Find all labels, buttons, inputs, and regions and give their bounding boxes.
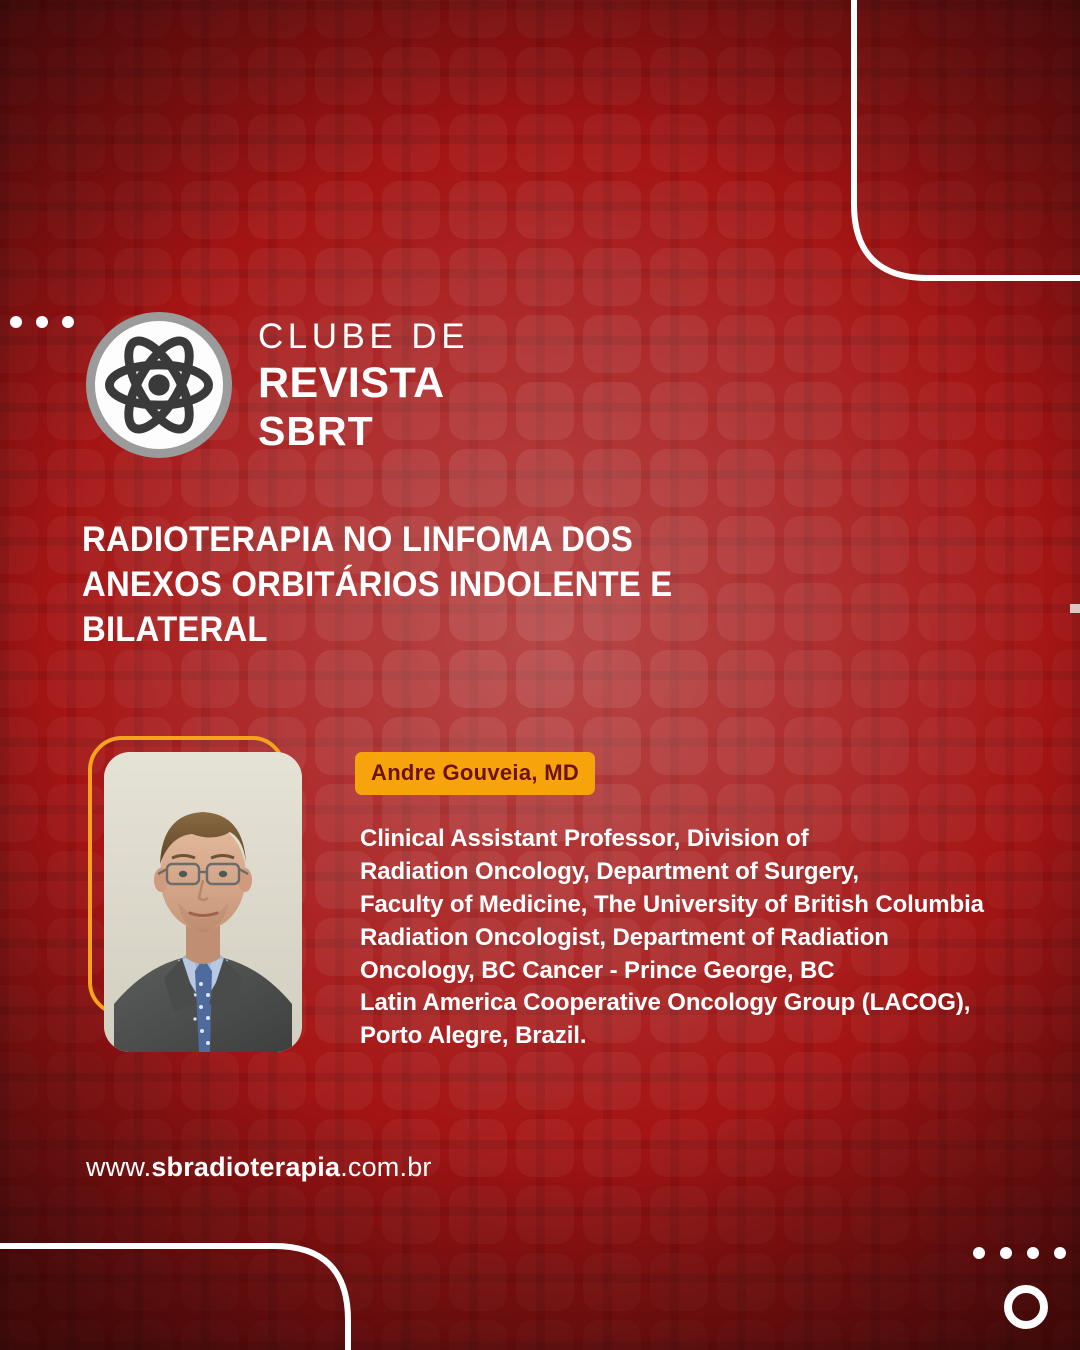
background-tile bbox=[650, 717, 708, 775]
background-tile bbox=[449, 1253, 507, 1311]
background-tile bbox=[1052, 1253, 1080, 1311]
background-tile bbox=[583, 382, 641, 440]
background-tile bbox=[114, 114, 172, 172]
background-tile bbox=[918, 583, 976, 641]
bio-line: Radiation Oncology, Department of Surger… bbox=[360, 856, 1020, 889]
background-tile bbox=[114, 1253, 172, 1311]
background-tile bbox=[717, 583, 775, 641]
background-tile bbox=[0, 650, 38, 708]
brand-line-1: CLUBE DE bbox=[258, 319, 469, 354]
background-tile bbox=[717, 1253, 775, 1311]
background-tile bbox=[784, 248, 842, 306]
background-tile bbox=[918, 181, 976, 239]
background-tile bbox=[449, 1119, 507, 1177]
background-tile bbox=[114, 0, 172, 38]
background-tile bbox=[47, 181, 105, 239]
background-tile bbox=[114, 1320, 172, 1350]
background-tile bbox=[583, 1052, 641, 1110]
portrait-photo bbox=[104, 752, 302, 1052]
background-tile bbox=[985, 717, 1043, 775]
background-tile bbox=[1052, 1052, 1080, 1110]
background-tile bbox=[851, 1119, 909, 1177]
dot bbox=[1027, 1247, 1039, 1259]
background-tile bbox=[449, 1186, 507, 1244]
background-tile bbox=[851, 382, 909, 440]
background-tile bbox=[717, 315, 775, 373]
background-tile bbox=[1052, 985, 1080, 1043]
background-tile bbox=[851, 315, 909, 373]
background-tile bbox=[382, 1052, 440, 1110]
background-tile bbox=[851, 449, 909, 507]
background-tile bbox=[248, 1320, 306, 1350]
background-tile bbox=[0, 583, 38, 641]
background-tile bbox=[650, 1119, 708, 1177]
background-tile bbox=[449, 248, 507, 306]
background-tile bbox=[985, 650, 1043, 708]
background-tile bbox=[784, 47, 842, 105]
background-tile bbox=[382, 181, 440, 239]
background-tile bbox=[248, 248, 306, 306]
background-tile bbox=[583, 114, 641, 172]
background-tile bbox=[47, 1052, 105, 1110]
background-tile bbox=[516, 181, 574, 239]
background-tile bbox=[516, 47, 574, 105]
background-tile bbox=[0, 1186, 38, 1244]
background-tile bbox=[114, 47, 172, 105]
background-tile bbox=[114, 650, 172, 708]
brand-line-3: SBRT bbox=[258, 411, 469, 452]
speaker-name-badge: Andre Gouveia, MD bbox=[355, 752, 595, 795]
page-title: RADIOTERAPIA NO LINFOMA DOS ANEXOS ORBIT… bbox=[82, 518, 684, 652]
background-tile bbox=[248, 0, 306, 38]
background-tile bbox=[516, 1052, 574, 1110]
background-tile bbox=[583, 650, 641, 708]
atom-icon-glyph bbox=[100, 326, 218, 444]
background-tile bbox=[47, 248, 105, 306]
background-tile bbox=[650, 650, 708, 708]
background-tile bbox=[181, 248, 239, 306]
background-tile bbox=[784, 650, 842, 708]
background-tile bbox=[449, 1052, 507, 1110]
poster-canvas: CLUBE DE REVISTA SBRT RADIOTERAPIA NO LI… bbox=[0, 0, 1080, 1350]
background-tile bbox=[114, 1052, 172, 1110]
brand-logo: CLUBE DE REVISTA SBRT bbox=[86, 312, 469, 458]
background-tile bbox=[851, 0, 909, 38]
background-tile bbox=[784, 516, 842, 574]
background-tile bbox=[449, 1320, 507, 1350]
background-tile bbox=[47, 1253, 105, 1311]
background-tile bbox=[248, 1052, 306, 1110]
background-tile bbox=[650, 47, 708, 105]
bio-line: Clinical Assistant Professor, Division o… bbox=[360, 823, 1020, 856]
background-tile bbox=[449, 650, 507, 708]
background-tile bbox=[851, 516, 909, 574]
background-tile bbox=[918, 1186, 976, 1244]
background-tile bbox=[382, 1253, 440, 1311]
background-tile bbox=[382, 47, 440, 105]
background-tile bbox=[918, 717, 976, 775]
background-tile bbox=[516, 382, 574, 440]
background-tile bbox=[918, 47, 976, 105]
background-tile bbox=[851, 114, 909, 172]
background-tile bbox=[918, 1320, 976, 1350]
background-tile bbox=[985, 583, 1043, 641]
speaker-bio: Clinical Assistant Professor, Division o… bbox=[360, 823, 1020, 1053]
background-tile bbox=[516, 0, 574, 38]
background-tile bbox=[717, 0, 775, 38]
dot bbox=[1000, 1247, 1012, 1259]
background-tile bbox=[918, 248, 976, 306]
edge-tick-mark bbox=[1070, 604, 1080, 613]
background-tile bbox=[851, 181, 909, 239]
background-tile bbox=[650, 181, 708, 239]
background-tile bbox=[315, 47, 373, 105]
dot bbox=[10, 316, 22, 328]
background-tile bbox=[449, 0, 507, 38]
background-tile bbox=[516, 1186, 574, 1244]
background-tile bbox=[382, 114, 440, 172]
dots-right bbox=[973, 1247, 1066, 1259]
background-tile bbox=[516, 315, 574, 373]
background-tile bbox=[1052, 650, 1080, 708]
background-tile bbox=[0, 114, 38, 172]
background-tile bbox=[0, 1119, 38, 1177]
background-tile bbox=[784, 382, 842, 440]
background-tile bbox=[382, 248, 440, 306]
background-tile bbox=[583, 47, 641, 105]
background-tile bbox=[583, 0, 641, 38]
background-tile bbox=[985, 1119, 1043, 1177]
dot bbox=[1054, 1247, 1066, 1259]
background-tile bbox=[918, 0, 976, 38]
background-tile bbox=[985, 1186, 1043, 1244]
background-tile bbox=[516, 449, 574, 507]
background-tile bbox=[650, 382, 708, 440]
background-tile bbox=[516, 650, 574, 708]
background-tile bbox=[315, 1253, 373, 1311]
website-prefix: www. bbox=[86, 1152, 151, 1182]
background-tile bbox=[181, 650, 239, 708]
background-tile bbox=[516, 248, 574, 306]
background-tile bbox=[0, 851, 38, 909]
background-tile bbox=[0, 784, 38, 842]
bio-line: Oncology, BC Cancer - Prince George, BC bbox=[360, 955, 1020, 988]
background-tile bbox=[248, 1253, 306, 1311]
background-tile bbox=[717, 382, 775, 440]
background-tile bbox=[918, 1119, 976, 1177]
background-tile bbox=[583, 1186, 641, 1244]
background-tile bbox=[650, 114, 708, 172]
website-domain: sbradioterapia bbox=[151, 1152, 340, 1182]
background-tile bbox=[315, 1186, 373, 1244]
background-tile bbox=[248, 1186, 306, 1244]
background-tile bbox=[851, 1253, 909, 1311]
background-tile bbox=[181, 0, 239, 38]
website-suffix: .com.br bbox=[340, 1152, 431, 1182]
background-tile bbox=[1052, 181, 1080, 239]
background-tile bbox=[851, 583, 909, 641]
background-tile bbox=[0, 1052, 38, 1110]
background-tile bbox=[650, 315, 708, 373]
background-tile bbox=[1052, 248, 1080, 306]
background-tile bbox=[1052, 1320, 1080, 1350]
background-tile bbox=[583, 181, 641, 239]
background-tile bbox=[181, 1253, 239, 1311]
background-tile bbox=[181, 114, 239, 172]
background-tile bbox=[0, 0, 38, 38]
background-tile bbox=[717, 516, 775, 574]
background-tile bbox=[784, 0, 842, 38]
background-tile bbox=[449, 181, 507, 239]
background-tile bbox=[47, 0, 105, 38]
background-tile bbox=[516, 114, 574, 172]
background-tile bbox=[918, 650, 976, 708]
background-tile bbox=[315, 181, 373, 239]
background-tile bbox=[918, 516, 976, 574]
background-tile bbox=[1052, 315, 1080, 373]
background-tile bbox=[315, 248, 373, 306]
background-tile bbox=[0, 449, 38, 507]
background-tile bbox=[1052, 717, 1080, 775]
background-tile bbox=[1052, 114, 1080, 172]
background-tile bbox=[851, 1186, 909, 1244]
background-tile bbox=[784, 1253, 842, 1311]
background-tile bbox=[784, 1119, 842, 1177]
background-tile bbox=[1052, 449, 1080, 507]
background-tile bbox=[717, 181, 775, 239]
brand-line-2: REVISTA bbox=[258, 362, 469, 405]
background-tile bbox=[181, 1052, 239, 1110]
background-tile bbox=[1052, 784, 1080, 842]
background-tile bbox=[650, 1186, 708, 1244]
background-tile bbox=[1052, 918, 1080, 976]
background-tile bbox=[851, 248, 909, 306]
background-tile bbox=[1052, 1119, 1080, 1177]
atom-icon bbox=[86, 312, 232, 458]
dot bbox=[973, 1247, 985, 1259]
background-tile bbox=[851, 1052, 909, 1110]
bio-line: Porto Alegre, Brazil. bbox=[360, 1020, 1020, 1053]
background-tile bbox=[248, 114, 306, 172]
background-tile bbox=[382, 650, 440, 708]
background-tile bbox=[382, 1320, 440, 1350]
background-tile bbox=[851, 1320, 909, 1350]
background-tile bbox=[784, 1320, 842, 1350]
background-tile bbox=[985, 516, 1043, 574]
background-tile bbox=[315, 114, 373, 172]
background-tile bbox=[0, 382, 38, 440]
background-tile bbox=[1052, 516, 1080, 574]
background-tile bbox=[717, 1119, 775, 1177]
background-tile bbox=[583, 315, 641, 373]
background-tile bbox=[315, 650, 373, 708]
background-tile bbox=[382, 0, 440, 38]
background-tile bbox=[315, 1320, 373, 1350]
background-tile bbox=[918, 449, 976, 507]
background-tile bbox=[315, 0, 373, 38]
background-tile bbox=[985, 449, 1043, 507]
background-tile bbox=[717, 650, 775, 708]
background-tile bbox=[248, 181, 306, 239]
background-tile bbox=[47, 114, 105, 172]
background-tile bbox=[0, 1320, 38, 1350]
background-tile bbox=[0, 47, 38, 105]
background-tile bbox=[181, 1186, 239, 1244]
background-tile bbox=[985, 1052, 1043, 1110]
background-tile bbox=[248, 650, 306, 708]
background-tile bbox=[985, 181, 1043, 239]
background-tile bbox=[0, 1253, 38, 1311]
background-tile bbox=[717, 114, 775, 172]
background-tile bbox=[784, 449, 842, 507]
background-tile bbox=[650, 1253, 708, 1311]
background-tile bbox=[650, 248, 708, 306]
background-tile bbox=[516, 1320, 574, 1350]
background-tile bbox=[0, 248, 38, 306]
background-tile bbox=[516, 1119, 574, 1177]
background-tile bbox=[851, 650, 909, 708]
background-tiles bbox=[0, 0, 1080, 1350]
dot bbox=[62, 316, 74, 328]
background-tile bbox=[47, 1186, 105, 1244]
background-tile bbox=[985, 382, 1043, 440]
background-tile bbox=[784, 717, 842, 775]
background-tile bbox=[47, 47, 105, 105]
background-tile bbox=[583, 1253, 641, 1311]
background-tile bbox=[181, 1320, 239, 1350]
background-tile bbox=[918, 382, 976, 440]
background-tile bbox=[650, 1052, 708, 1110]
background-tile bbox=[851, 717, 909, 775]
background-tile bbox=[449, 114, 507, 172]
background-tile bbox=[717, 248, 775, 306]
background-tile bbox=[1052, 47, 1080, 105]
background-tile bbox=[382, 1186, 440, 1244]
background-tile bbox=[114, 1186, 172, 1244]
background-tile bbox=[47, 650, 105, 708]
background-tile bbox=[851, 47, 909, 105]
bio-line: Faculty of Medicine, The University of B… bbox=[360, 889, 1020, 922]
speaker-avatar bbox=[104, 752, 302, 1052]
background-tile bbox=[985, 0, 1043, 38]
background-tile bbox=[0, 717, 38, 775]
dots-left bbox=[10, 316, 74, 328]
background-tile bbox=[784, 181, 842, 239]
background-tile bbox=[0, 985, 38, 1043]
background-tile bbox=[0, 918, 38, 976]
background-tile bbox=[717, 47, 775, 105]
background-tile bbox=[114, 181, 172, 239]
background-tile bbox=[516, 1253, 574, 1311]
background-tile bbox=[650, 0, 708, 38]
dot bbox=[36, 316, 48, 328]
background-tile bbox=[784, 1186, 842, 1244]
bio-line: Latin America Cooperative Oncology Group… bbox=[360, 987, 1020, 1020]
background-tile bbox=[0, 516, 38, 574]
background-tile bbox=[0, 181, 38, 239]
background-tile bbox=[583, 449, 641, 507]
background-tile bbox=[985, 47, 1043, 105]
background-tile bbox=[1052, 1186, 1080, 1244]
background-tile bbox=[985, 114, 1043, 172]
background-tile bbox=[784, 583, 842, 641]
background-tile bbox=[315, 1052, 373, 1110]
website-url[interactable]: www.sbradioterapia.com.br bbox=[86, 1152, 432, 1183]
background-tile bbox=[181, 181, 239, 239]
background-tile bbox=[784, 315, 842, 373]
background-tile bbox=[181, 47, 239, 105]
background-tile bbox=[583, 1320, 641, 1350]
background-tile bbox=[1052, 851, 1080, 909]
background-tile bbox=[985, 315, 1043, 373]
background-tile bbox=[717, 1052, 775, 1110]
background-tile bbox=[717, 1186, 775, 1244]
background-tile bbox=[1052, 0, 1080, 38]
background-tile bbox=[114, 248, 172, 306]
bio-line: Radiation Oncologist, Department of Radi… bbox=[360, 922, 1020, 955]
background-tile bbox=[717, 1320, 775, 1350]
background-tile bbox=[248, 47, 306, 105]
background-tile bbox=[918, 114, 976, 172]
background-tile bbox=[583, 248, 641, 306]
background-tile bbox=[918, 1253, 976, 1311]
background-tile bbox=[918, 315, 976, 373]
background-tile bbox=[784, 114, 842, 172]
circle-outline-icon bbox=[1004, 1285, 1048, 1329]
background-tile bbox=[449, 47, 507, 105]
background-tile bbox=[650, 449, 708, 507]
background-tile bbox=[985, 248, 1043, 306]
background-tile bbox=[583, 1119, 641, 1177]
background-tile bbox=[918, 1052, 976, 1110]
background-tile bbox=[47, 1320, 105, 1350]
background-tile bbox=[717, 449, 775, 507]
background-tile bbox=[650, 1320, 708, 1350]
background-tile bbox=[1052, 382, 1080, 440]
background-tile bbox=[717, 717, 775, 775]
background-tile bbox=[784, 1052, 842, 1110]
